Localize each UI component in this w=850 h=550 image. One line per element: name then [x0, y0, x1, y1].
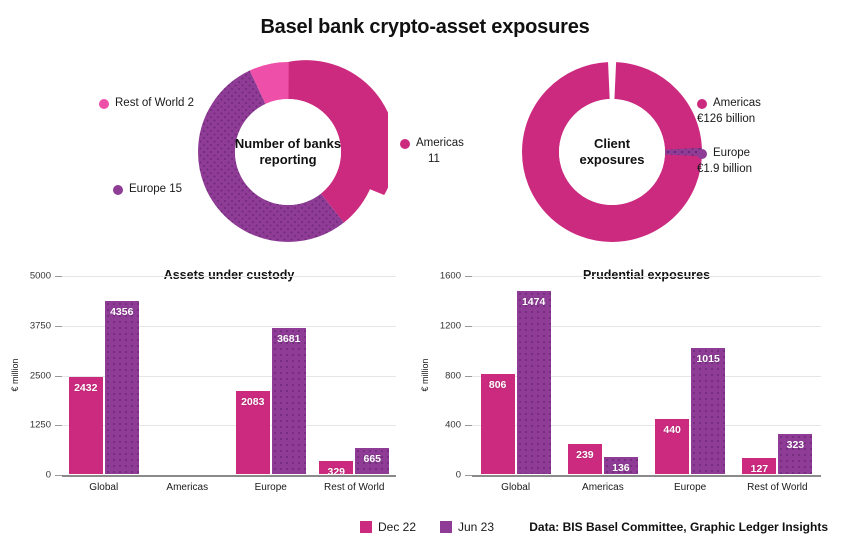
bar-value-label: 440 — [655, 424, 689, 436]
page-title: Basel bank crypto-asset exposures — [0, 16, 850, 39]
legend-value-europe-exposure: €1.9 billion — [697, 162, 752, 178]
bar-global-dec-22[interactable]: 2432 — [69, 377, 103, 474]
bar-value-label: 1015 — [691, 353, 725, 365]
bar-europe-jun-23[interactable]: 1015 — [691, 348, 725, 474]
legend-dot-americas — [400, 139, 410, 149]
y-tick-mark — [55, 425, 62, 426]
donut-chart-client-exposures: Client exposures — [512, 52, 712, 252]
y-tick-label: 5000 — [30, 271, 51, 282]
y-tick-mark — [55, 326, 62, 327]
y-tick-mark — [465, 326, 472, 327]
legend-value-americas-exposure: €126 billion — [697, 112, 761, 128]
bar-americas-dec-22[interactable]: 239 — [568, 444, 602, 474]
bar-europe-dec-22[interactable]: 440 — [655, 419, 689, 474]
legend-label-jun23: Jun 23 — [458, 520, 494, 534]
gridline — [62, 276, 396, 277]
legend-dot-americas-exposure — [697, 99, 707, 109]
bar-value-label: 2083 — [236, 396, 270, 408]
bar-value-label: 323 — [778, 439, 812, 451]
x-tick-label-rest-of-world: Rest of World — [313, 482, 397, 493]
y-tick-label: 3750 — [30, 320, 51, 331]
bar-rest-of-world-jun-23[interactable]: 665 — [355, 448, 389, 474]
bar-value-label: 4356 — [105, 306, 139, 318]
y-tick-mark — [465, 376, 472, 377]
bar-chart-prudential-exposures: Prudential exposures€ million04008001200… — [420, 262, 835, 507]
data-credit: Data: BIS Basel Committee, Graphic Ledge… — [529, 520, 828, 534]
y-tick-label: 0 — [46, 470, 51, 481]
y-tick-mark — [55, 276, 62, 277]
bar-americas-jun-23[interactable]: 136 — [604, 457, 638, 474]
bar-value-label: 1474 — [517, 296, 551, 308]
bar-rest-of-world-dec-22[interactable]: 329 — [319, 461, 353, 474]
chart-title: Prudential exposures — [472, 268, 821, 282]
bar-value-label: 239 — [568, 449, 602, 461]
legend-swatch-jun23 — [440, 521, 452, 533]
x-tick-label-americas: Americas — [146, 482, 230, 493]
bar-value-label: 127 — [742, 463, 776, 475]
bar-europe-dec-22[interactable]: 2083 — [236, 391, 270, 474]
infographic-root: Basel bank crypto-asset exposures Number… — [0, 0, 850, 550]
x-tick-label-global: Global — [472, 482, 559, 493]
legend-label-europe-exposure: Europe — [713, 146, 750, 162]
legend-dot-europe-exposure — [697, 149, 707, 159]
y-axis-label: € million — [10, 330, 20, 420]
bar-global-jun-23[interactable]: 1474 — [517, 291, 551, 474]
y-tick-label: 1200 — [440, 320, 461, 331]
legend-banks-rest-of-world: Rest of World 2 — [99, 96, 194, 112]
y-tick-label: 1250 — [30, 420, 51, 431]
bar-rest-of-world-dec-22[interactable]: 127 — [742, 458, 776, 474]
bar-value-label: 329 — [319, 466, 353, 478]
footer-legend-dec22[interactable]: Dec 22 — [360, 520, 416, 534]
legend-label-rest-of-world: Rest of World 2 — [115, 96, 194, 112]
legend-value-americas: 11 — [400, 152, 464, 168]
legend-client-europe: Europe €1.9 billion — [697, 146, 752, 177]
bar-value-label: 2432 — [69, 382, 103, 394]
legend-label-americas-exposure: Americas — [713, 96, 761, 112]
x-axis-baseline — [472, 475, 821, 477]
legend-label-dec22: Dec 22 — [378, 520, 416, 534]
y-tick-mark — [465, 475, 472, 476]
bar-global-jun-23[interactable]: 4356 — [105, 301, 139, 474]
legend-label-europe: Europe 15 — [129, 182, 182, 198]
y-axis-label: € million — [420, 330, 430, 420]
bar-global-dec-22[interactable]: 806 — [481, 374, 515, 474]
legend-banks-europe: Europe 15 — [113, 182, 182, 198]
x-tick-label-europe: Europe — [229, 482, 313, 493]
y-tick-mark — [55, 376, 62, 377]
y-tick-mark — [465, 276, 472, 277]
legend-swatch-dec22 — [360, 521, 372, 533]
bar-value-label: 136 — [604, 462, 638, 474]
gridline — [472, 276, 821, 277]
y-tick-mark — [465, 425, 472, 426]
legend-dot-rest-of-world — [99, 99, 109, 109]
y-tick-label: 1600 — [440, 271, 461, 282]
donut-chart-banks-reporting: Number of banks reporting — [188, 52, 388, 252]
legend-dot-europe — [113, 185, 123, 195]
x-tick-label-global: Global — [62, 482, 146, 493]
bar-value-label: 806 — [481, 379, 515, 391]
bar-chart-assets-under-custody: Assets under custody€ million01250250037… — [10, 262, 410, 507]
y-tick-label: 400 — [445, 420, 461, 431]
y-tick-label: 0 — [456, 470, 461, 481]
y-tick-label: 2500 — [30, 370, 51, 381]
y-tick-mark — [55, 475, 62, 476]
legend-client-americas: Americas €126 billion — [697, 96, 761, 127]
bar-europe-jun-23[interactable]: 3681 — [272, 328, 306, 475]
y-tick-label: 800 — [445, 370, 461, 381]
x-tick-label-rest-of-world: Rest of World — [734, 482, 821, 493]
x-tick-label-americas: Americas — [559, 482, 646, 493]
bar-value-label: 3681 — [272, 333, 306, 345]
x-tick-label-europe: Europe — [647, 482, 734, 493]
footer: Dec 22 Jun 23 Data: BIS Basel Committee,… — [0, 518, 850, 540]
footer-legend-jun23[interactable]: Jun 23 — [440, 520, 494, 534]
legend-banks-americas: Americas 11 — [400, 136, 464, 167]
legend-label-americas: Americas — [416, 136, 464, 152]
chart-title: Assets under custody — [62, 268, 396, 282]
bar-value-label: 665 — [355, 453, 389, 465]
bar-rest-of-world-jun-23[interactable]: 323 — [778, 434, 812, 474]
